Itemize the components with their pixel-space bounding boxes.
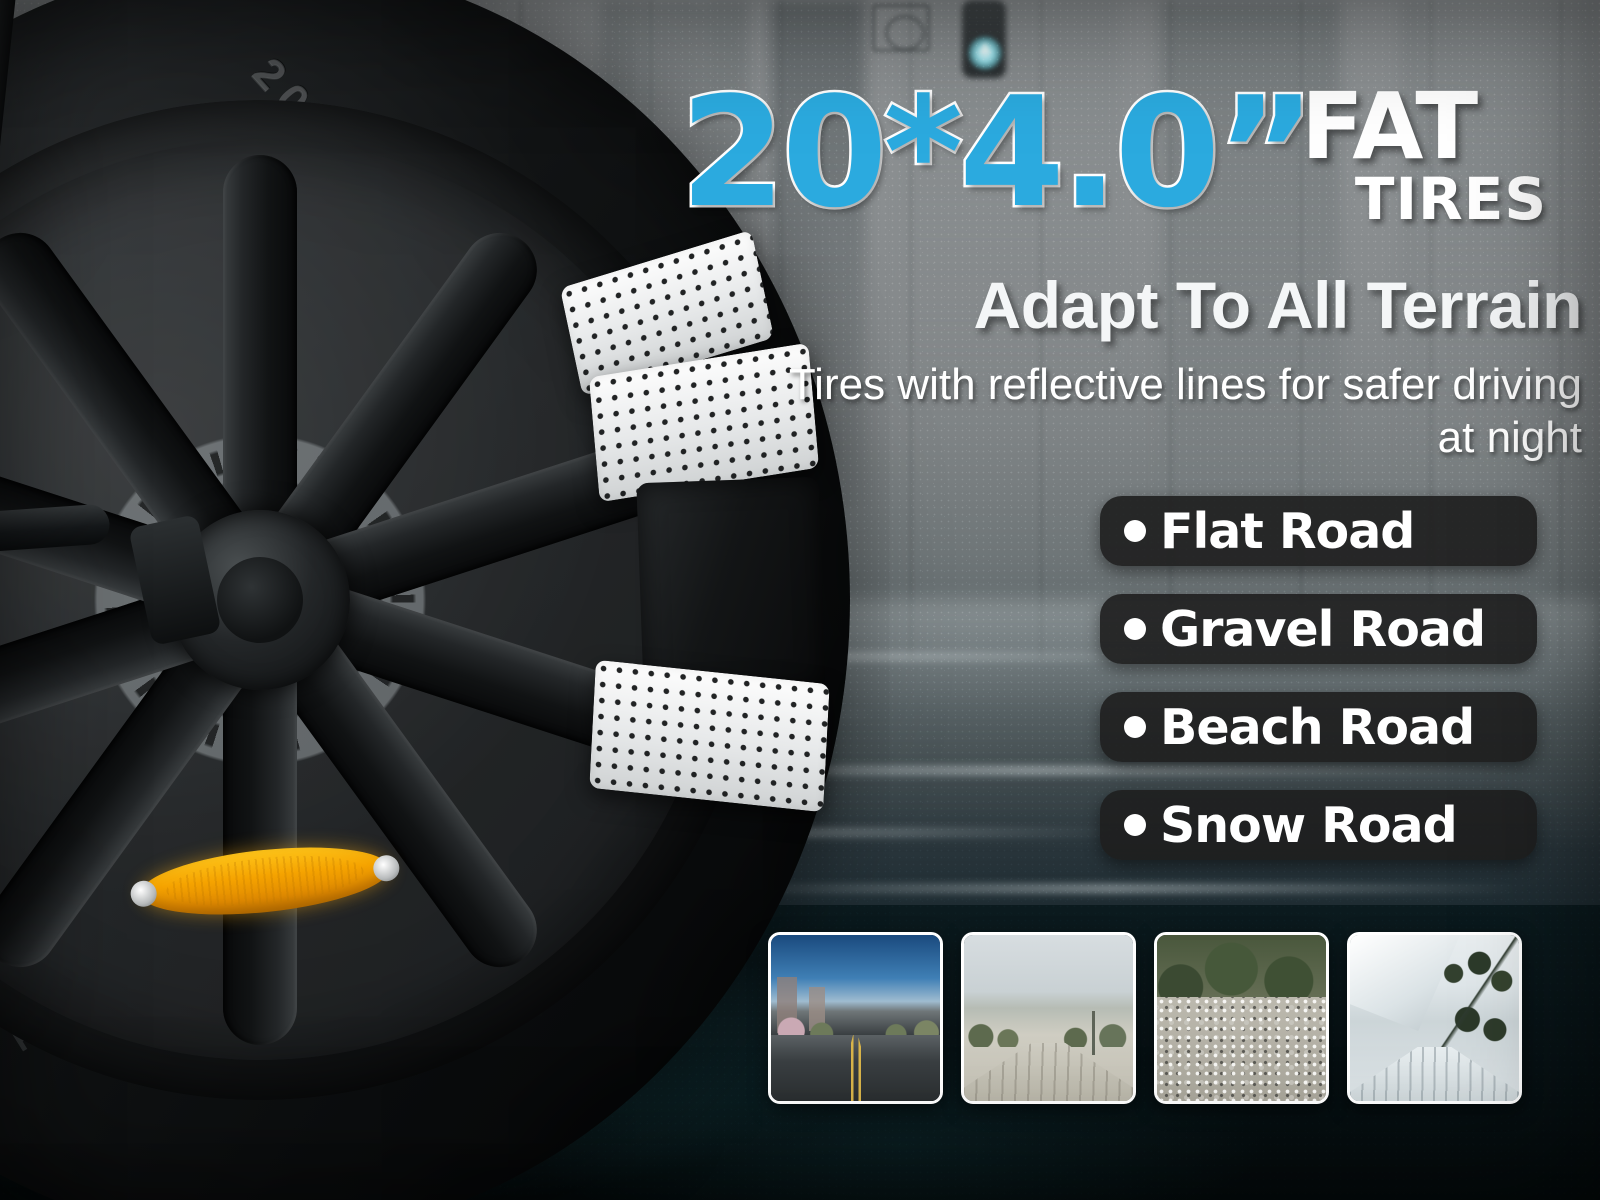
tires-label: TIRES	[1301, 170, 1600, 228]
hub-axle	[217, 557, 303, 643]
marketing-banner: 20*4.0 FAT TIRE	[0, 0, 1600, 1200]
terrain-pill-flat-road[interactable]: Flat Road	[1100, 496, 1537, 566]
gravel-road-thumbnail[interactable]	[1154, 932, 1329, 1104]
terrain-pill-snow-road[interactable]: Snow Road	[1100, 790, 1537, 860]
bullet-dot-icon	[1124, 814, 1146, 836]
sand-road-thumbnail[interactable]	[961, 932, 1136, 1104]
terrain-list: Flat Road Gravel Road Beach Road Snow Ro…	[1100, 496, 1537, 888]
reflective-band	[589, 660, 829, 813]
subheading: Adapt To All Terrain	[660, 268, 1600, 342]
headline-block: 20*4.0” FAT TIRES	[660, 78, 1600, 248]
tire-bare-section	[636, 477, 825, 695]
supporting-text: Tires with reflective lines for safer dr…	[780, 358, 1600, 464]
terrain-pill-label: Beach Road	[1160, 703, 1474, 752]
tire-size-headline: 20*4.0”	[680, 78, 1312, 228]
flat-road-thumbnail[interactable]	[768, 932, 943, 1104]
fat-label: FAT	[1301, 84, 1477, 170]
terrain-pill-label: Flat Road	[1160, 507, 1414, 556]
snow-road-thumbnail[interactable]	[1347, 932, 1522, 1104]
bullet-dot-icon	[1124, 520, 1146, 542]
terrain-pill-gravel-road[interactable]: Gravel Road	[1100, 594, 1537, 664]
bullet-dot-icon	[1124, 716, 1146, 738]
bullet-dot-icon	[1124, 618, 1146, 640]
terrain-pill-beach-road[interactable]: Beach Road	[1100, 692, 1537, 762]
terrain-pill-label: Gravel Road	[1160, 605, 1485, 654]
terrain-pill-label: Snow Road	[1160, 801, 1457, 850]
terrain-thumbnail-strip	[768, 932, 1558, 1104]
